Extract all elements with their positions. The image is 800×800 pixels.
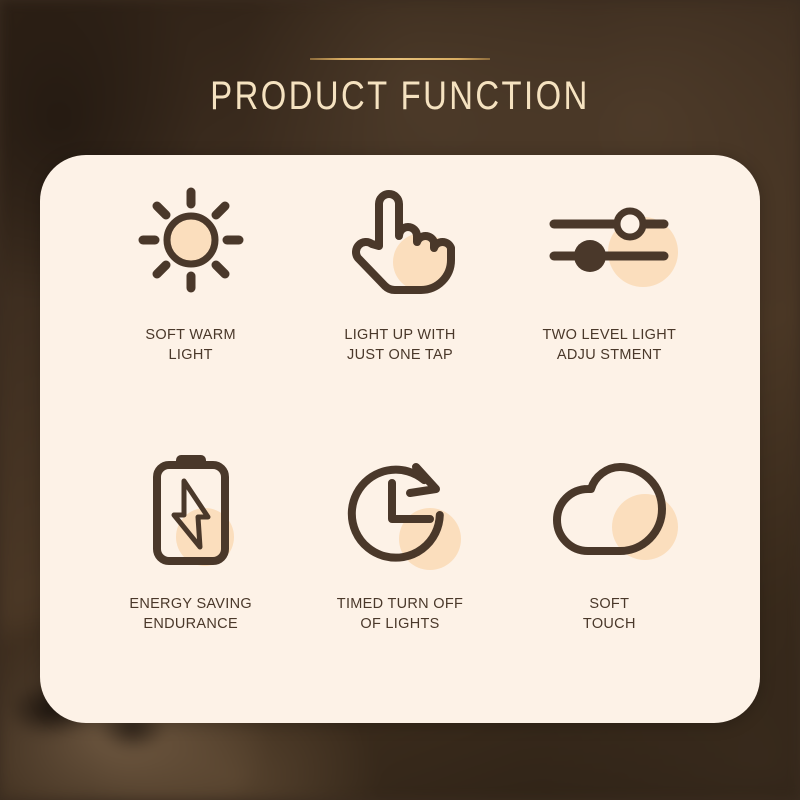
feature-item-soft-touch[interactable]: SOFT TOUCH — [505, 438, 714, 699]
sliders-icon — [546, 177, 672, 303]
feature-item-two-level-light-adjustment[interactable]: TWO LEVEL LIGHT ADJU STMENT — [505, 177, 714, 438]
page-title: PRODUCT FUNCTION — [72, 74, 728, 118]
pointing-hand-icon — [337, 177, 463, 303]
feature-grid: SOFT WARM LIGHT LIGHT UP WITH JUST ONE T… — [40, 155, 760, 723]
feature-card: SOFT WARM LIGHT LIGHT UP WITH JUST ONE T… — [40, 155, 760, 723]
battery-bolt-icon — [128, 446, 254, 572]
sun-icon — [128, 177, 254, 303]
feature-label: TWO LEVEL LIGHT ADJU STMENT — [542, 325, 676, 365]
feature-item-energy-saving-endurance[interactable]: ENERGY SAVING ENDURANCE — [86, 438, 295, 699]
cloud-icon — [546, 446, 672, 572]
feature-item-timed-turn-off-of-lights[interactable]: TIMED TURN OFF OF LIGHTS — [295, 438, 504, 699]
feature-item-light-up-with-just-one-tap[interactable]: LIGHT UP WITH JUST ONE TAP — [295, 177, 504, 438]
feature-label: LIGHT UP WITH JUST ONE TAP — [344, 325, 455, 365]
feature-label: SOFT WARM LIGHT — [145, 325, 236, 365]
timer-clock-icon — [337, 446, 463, 572]
feature-item-soft-warm-light[interactable]: SOFT WARM LIGHT — [86, 177, 295, 438]
header: PRODUCT FUNCTION — [0, 58, 800, 118]
feature-label: TIMED TURN OFF OF LIGHTS — [337, 594, 463, 634]
gold-divider — [310, 58, 490, 60]
feature-label: SOFT TOUCH — [583, 594, 636, 634]
feature-label: ENERGY SAVING ENDURANCE — [129, 594, 252, 634]
